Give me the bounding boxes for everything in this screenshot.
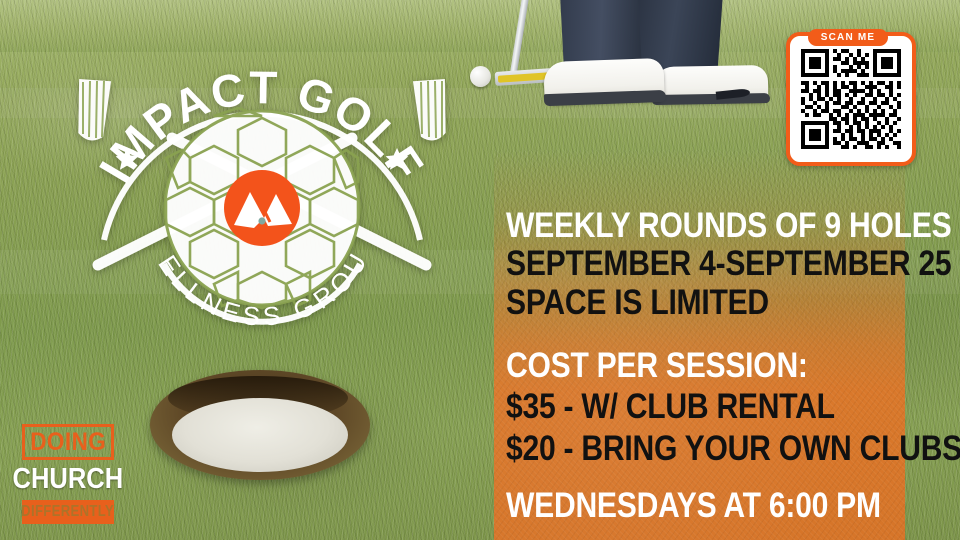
- church-logo-line-doing: DOING: [22, 424, 114, 460]
- line-space-limited: SPACE IS LIMITED: [506, 285, 769, 320]
- golf-event-flyer: IMPACT GOLF WELLNESS GROUP WEEKLY ROUNDS…: [0, 0, 960, 540]
- impact-golf-logo: IMPACT GOLF WELLNESS GROUP: [52, 18, 472, 348]
- heading-cost-per-session: COST PER SESSION:: [506, 348, 808, 383]
- price-own-clubs: $20 - BRING YOUR OWN CLUBS: [506, 431, 960, 466]
- church-church-text: CHURCH: [13, 463, 124, 496]
- golfer-legs: [556, 0, 816, 114]
- church-doing-text: DOING: [30, 428, 106, 457]
- scan-me-label: SCAN ME: [821, 32, 876, 43]
- church-logo-line-church: CHURCH: [22, 460, 114, 498]
- church-differently-text: DIFFERENTLY: [22, 503, 114, 521]
- shoe-sole-back: [652, 93, 770, 105]
- golf-ball: [470, 66, 491, 87]
- price-with-rental: $35 - W/ CLUB RENTAL: [506, 389, 835, 424]
- cup-liner: [172, 398, 348, 472]
- church-logo-line-differently: DIFFERENTLY: [22, 500, 114, 524]
- line-dates: SEPTEMBER 4-SEPTEMBER 25: [506, 246, 951, 281]
- line-schedule: WEDNESDAYS AT 6:00 PM: [506, 488, 881, 523]
- qr-code-card[interactable]: [786, 32, 916, 166]
- golf-hole: [150, 370, 370, 480]
- scan-me-badge[interactable]: SCAN ME: [808, 29, 888, 46]
- panel-text-block: WEEKLY ROUNDS OF 9 HOLES SEPTEMBER 4-SEP…: [504, 150, 904, 540]
- church-logo: DOING CHURCH DIFFERENTLY: [22, 424, 114, 540]
- qr-code-icon[interactable]: [801, 49, 901, 149]
- headline-weekly-rounds: WEEKLY ROUNDS OF 9 HOLES: [506, 208, 951, 243]
